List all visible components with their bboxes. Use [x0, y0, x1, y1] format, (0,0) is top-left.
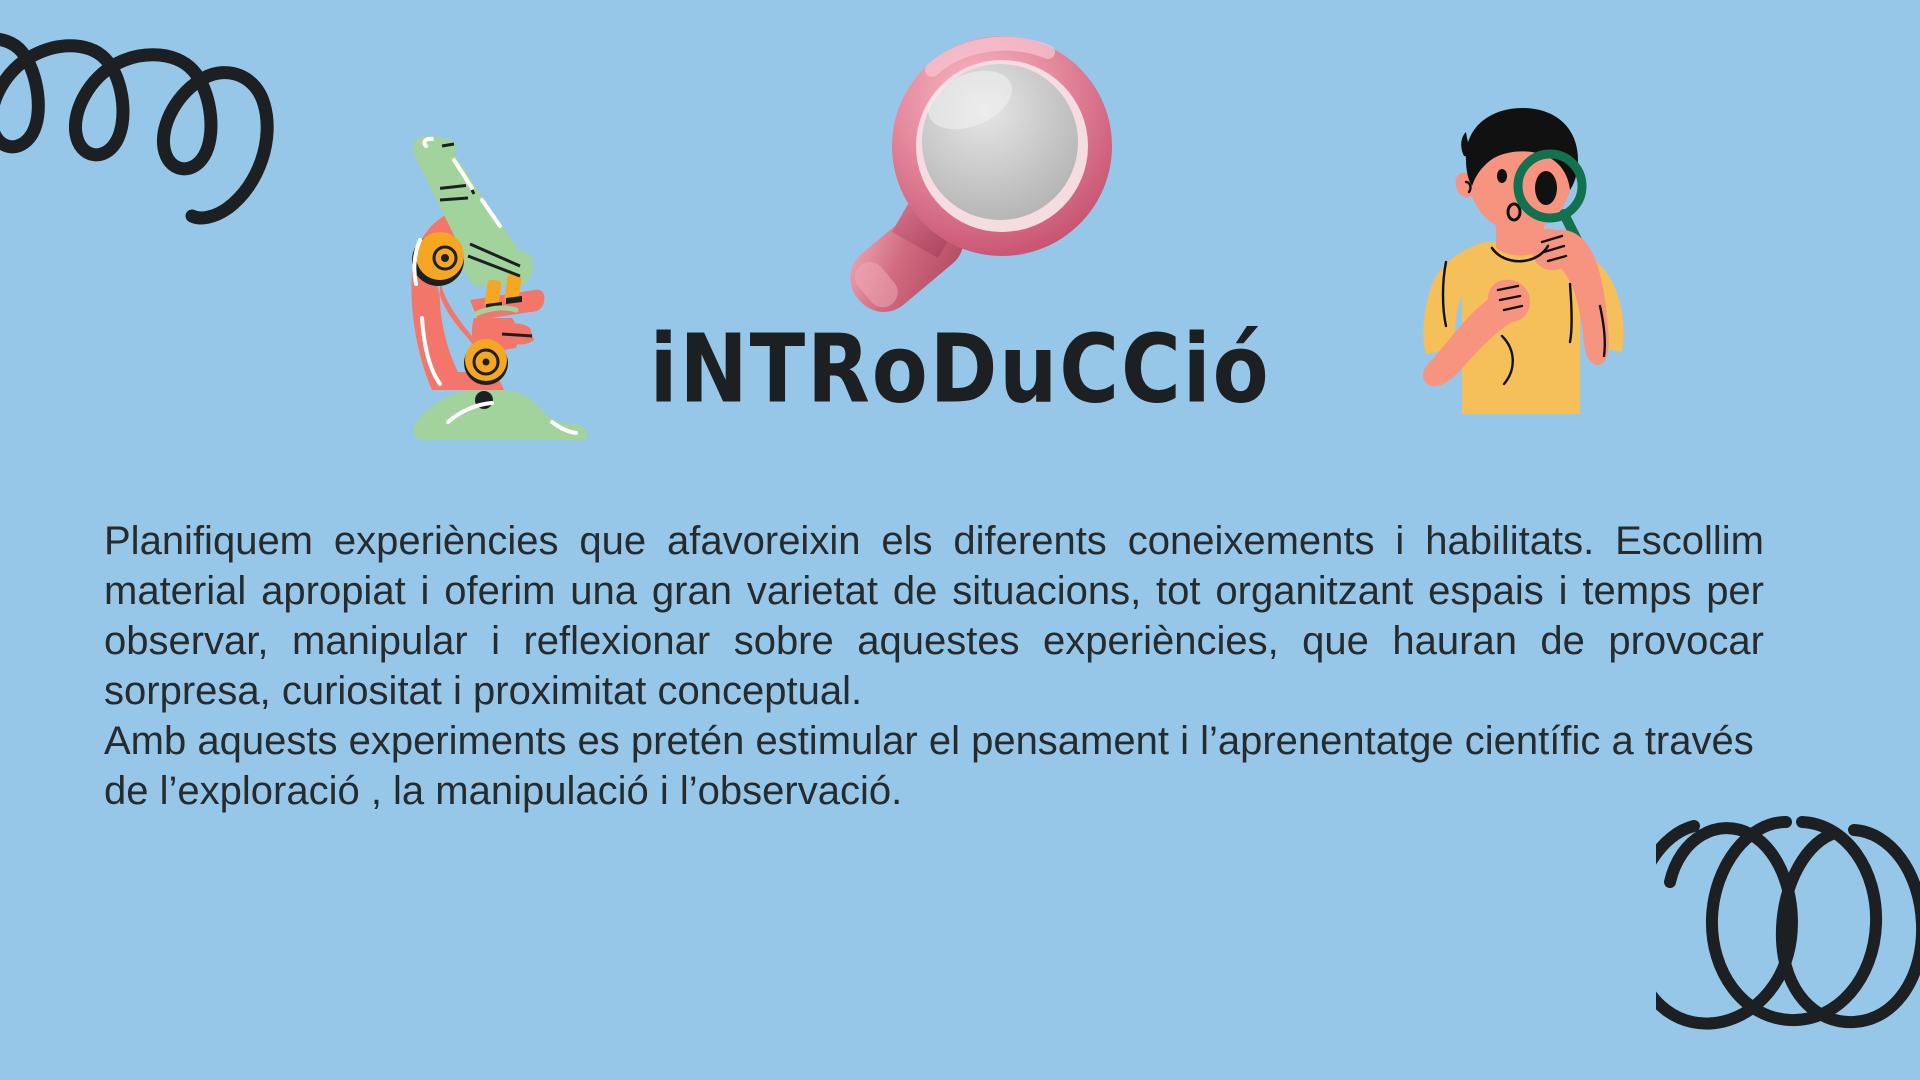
page-title-text: iNTRoDuCCió: [650, 322, 1271, 416]
loop-squiggle-bottom-right-icon: [1656, 808, 1920, 1038]
microscope-icon: [392, 122, 602, 452]
body-copy: Planifiquem experiències que afavoreixin…: [104, 516, 1764, 816]
slide-canvas: iNTRoDuCCió Planifiquem experiències que…: [0, 0, 1920, 1080]
magnifying-glass-3d-icon: [812, 22, 1112, 312]
paragraph-intro: Planifiquem experiències que afavoreixin…: [104, 516, 1764, 716]
boy-with-magnifier-icon: [1412, 102, 1642, 414]
paragraph-objective: Amb aquests experiments es pretén estimu…: [104, 716, 1764, 816]
spiral-squiggle-top-left-icon: [0, 8, 278, 228]
